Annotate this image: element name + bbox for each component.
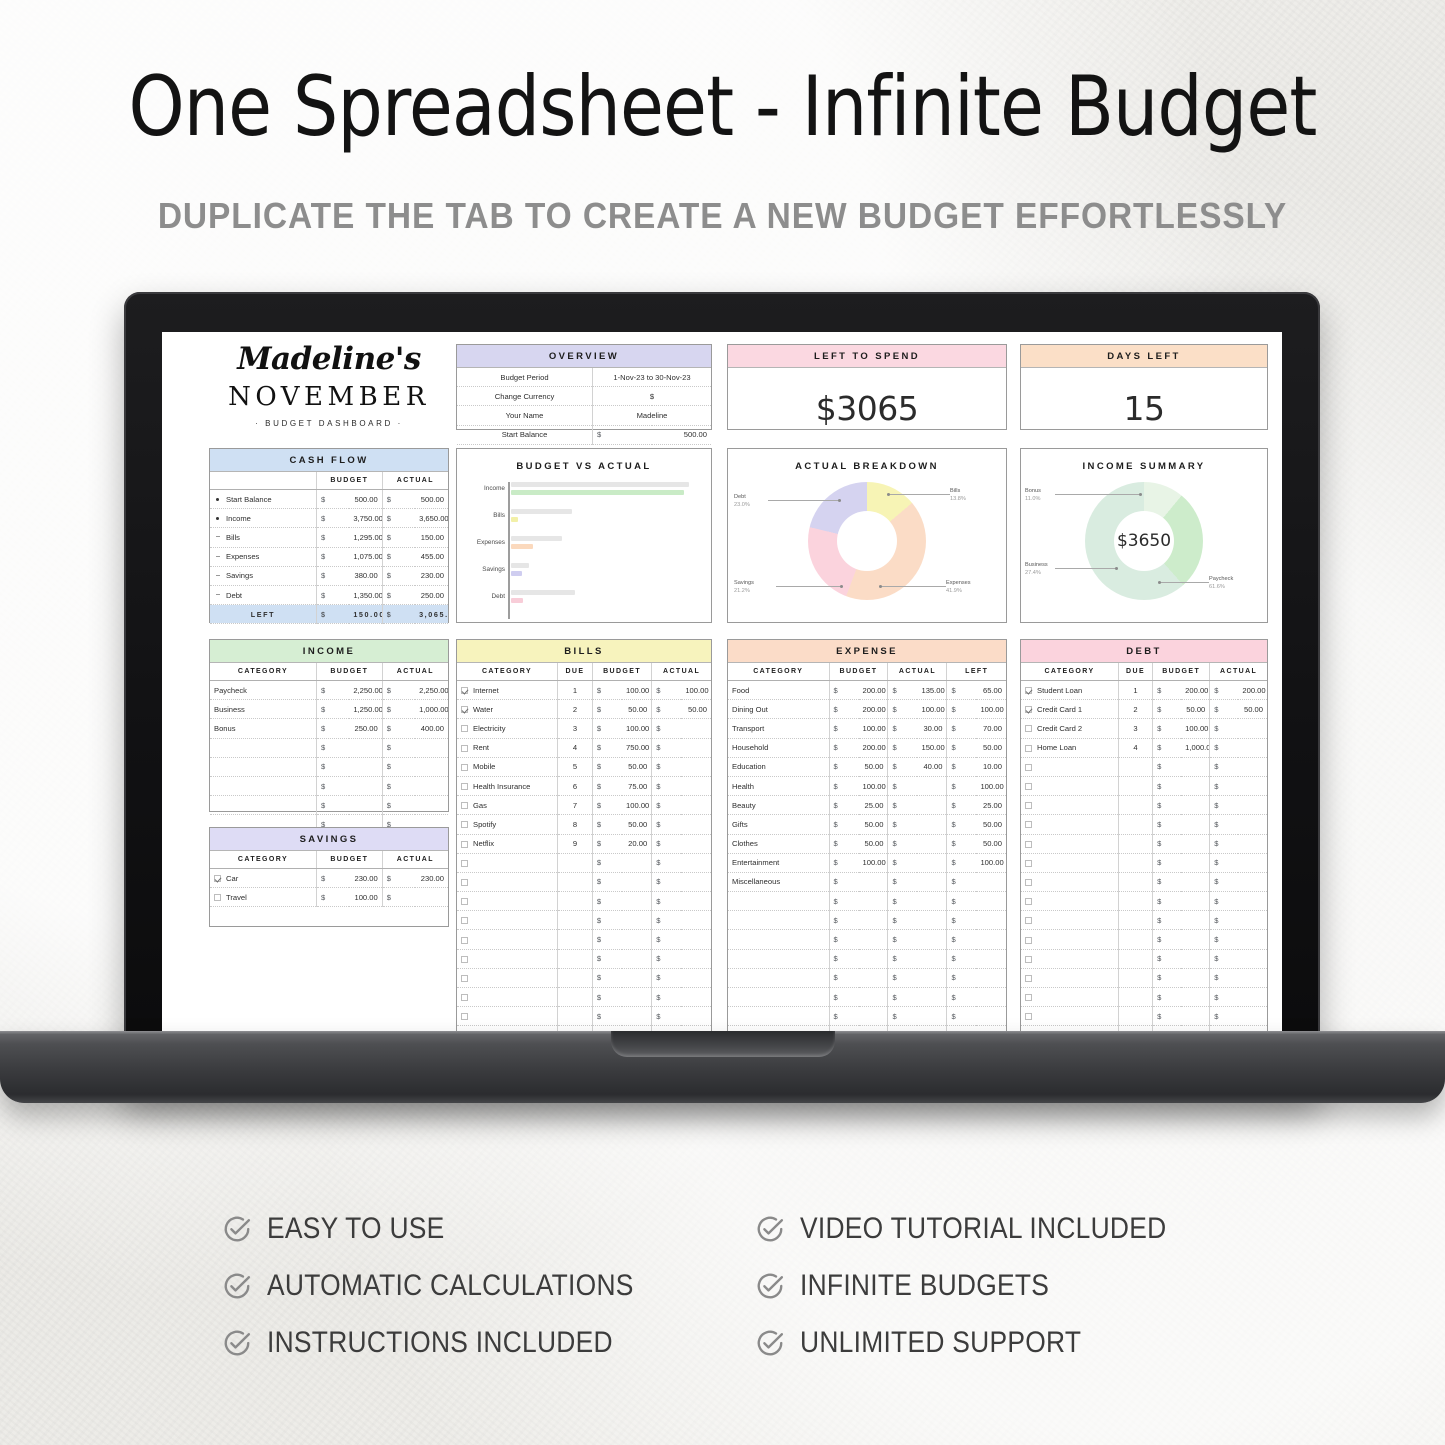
budget-value[interactable]: 50.00 — [859, 757, 888, 776]
row-checkbox[interactable] — [1025, 879, 1032, 886]
category-cell[interactable]: Food — [728, 681, 829, 700]
budget-value[interactable] — [622, 949, 652, 968]
table-row[interactable]: Health$100.00$$100.00 — [728, 776, 1006, 795]
budget-value[interactable]: 100.00 — [859, 853, 888, 872]
category-cell[interactable]: Health — [728, 776, 829, 795]
table-row[interactable]: Credit Card 12$50.00$50.00 — [1021, 700, 1267, 719]
actual-value[interactable] — [681, 853, 711, 872]
actual-value[interactable] — [1238, 988, 1267, 1007]
table-row[interactable]: $$ — [210, 796, 448, 815]
budget-value[interactable] — [622, 968, 652, 987]
due-value[interactable] — [557, 988, 592, 1007]
row-checkbox[interactable] — [461, 917, 468, 924]
category-cell[interactable] — [728, 911, 829, 930]
category-cell[interactable] — [1021, 911, 1119, 930]
actual-value[interactable] — [681, 949, 711, 968]
bills-panel[interactable]: BILLS CATEGORYDUEBUDGETACTUALInternet1$1… — [456, 639, 712, 1051]
table-row[interactable]: Home Loan4$1,000.00$ — [1021, 738, 1267, 757]
budget-value[interactable]: 100.00 — [622, 796, 652, 815]
table-row[interactable]: Car$230.00$230.00 — [210, 869, 448, 888]
due-value[interactable]: 5 — [557, 757, 592, 776]
savings-table[interactable]: CATEGORYBUDGETACTUALCar$230.00$230.00Tra… — [210, 851, 448, 907]
category-cell[interactable] — [457, 1007, 557, 1026]
budget-value[interactable] — [349, 776, 382, 795]
actual-value[interactable] — [1238, 719, 1267, 738]
table-row[interactable]: Health Insurance6$75.00$ — [457, 776, 711, 795]
category-cell[interactable]: Rent — [457, 738, 557, 757]
category-cell[interactable] — [457, 892, 557, 911]
due-value[interactable]: 2 — [1119, 700, 1153, 719]
row-checkbox[interactable] — [1025, 687, 1032, 694]
category-cell[interactable] — [1021, 757, 1119, 776]
budget-value[interactable]: 100.00 — [859, 776, 888, 795]
table-row[interactable]: Water2$50.00$50.00 — [457, 700, 711, 719]
table-row[interactable]: $$ — [457, 892, 711, 911]
actual-value[interactable] — [1238, 892, 1267, 911]
row-checkbox[interactable] — [1025, 764, 1032, 771]
actual-value[interactable]: 50.00 — [1238, 700, 1267, 719]
budget-value[interactable]: 50.00 — [859, 834, 888, 853]
budget-value[interactable]: 200.00 — [859, 700, 888, 719]
budget-value[interactable]: 200.00 — [859, 681, 888, 700]
actual-value[interactable]: 100.00 — [681, 681, 711, 700]
overview-value[interactable]: $ — [593, 387, 712, 406]
budget-value[interactable]: 750.00 — [622, 738, 652, 757]
table-row[interactable]: Spotify8$50.00$ — [457, 815, 711, 834]
actual-value[interactable]: 40.00 — [917, 757, 946, 776]
category-cell[interactable] — [1021, 834, 1119, 853]
budget-value[interactable]: 100.00 — [1181, 719, 1210, 738]
table-row[interactable]: Savings$380.00$230.00 — [210, 566, 448, 585]
actual-value[interactable]: 230.00 — [415, 869, 448, 888]
due-value[interactable] — [1119, 757, 1153, 776]
budget-value[interactable]: 50.00 — [859, 815, 888, 834]
category-cell[interactable]: Credit Card 2 — [1021, 719, 1119, 738]
actual-value[interactable] — [681, 872, 711, 891]
actual-value[interactable] — [917, 968, 946, 987]
due-value[interactable] — [557, 853, 592, 872]
budget-value[interactable] — [622, 872, 652, 891]
row-checkbox[interactable] — [1025, 745, 1032, 752]
row-checkbox[interactable] — [461, 841, 468, 848]
actual-value[interactable] — [415, 776, 448, 795]
category-cell[interactable]: Paycheck — [210, 681, 316, 700]
budget-spreadsheet[interactable]: Madeline's NOVEMBER · BUDGET DASHBOARD ·… — [162, 332, 1282, 1058]
budget-value[interactable]: 1,250.00 — [349, 700, 382, 719]
actual-value[interactable]: 1,000.00 — [415, 700, 448, 719]
table-row[interactable]: $$ — [1021, 815, 1267, 834]
table-row[interactable]: $$ — [1021, 892, 1267, 911]
table-row[interactable]: $$$ — [728, 930, 1006, 949]
category-cell[interactable] — [210, 757, 316, 776]
category-cell[interactable] — [1021, 968, 1119, 987]
actual-value[interactable] — [1238, 776, 1267, 795]
actual-value[interactable]: 500.00 — [415, 490, 448, 509]
actual-value[interactable] — [1238, 872, 1267, 891]
due-value[interactable] — [1119, 892, 1153, 911]
actual-value[interactable]: 30.00 — [917, 719, 946, 738]
due-value[interactable]: 1 — [1119, 681, 1153, 700]
actual-value[interactable]: 400.00 — [415, 719, 448, 738]
budget-value[interactable] — [859, 892, 888, 911]
row-checkbox[interactable] — [461, 687, 468, 694]
actual-value[interactable] — [917, 911, 946, 930]
budget-value[interactable] — [1181, 930, 1210, 949]
table-row[interactable]: Income$3,750.00$3,650.00 — [210, 509, 448, 528]
actual-value[interactable] — [681, 757, 711, 776]
table-row[interactable]: Change Currency$ — [457, 387, 711, 406]
budget-value[interactable]: 50.00 — [622, 700, 652, 719]
category-cell[interactable]: Miscellaneous — [728, 872, 829, 891]
budget-value[interactable]: 1,295.00 — [349, 528, 382, 547]
row-checkbox[interactable] — [461, 745, 468, 752]
table-row[interactable]: $$$ — [728, 949, 1006, 968]
due-value[interactable] — [1119, 1007, 1153, 1026]
table-row[interactable]: Credit Card 23$100.00$ — [1021, 719, 1267, 738]
category-cell[interactable] — [1021, 796, 1119, 815]
actual-value[interactable] — [917, 1007, 946, 1026]
table-row[interactable]: $$ — [457, 911, 711, 930]
due-value[interactable]: 8 — [557, 815, 592, 834]
budget-value[interactable]: 380.00 — [349, 566, 382, 585]
income-summary-panel[interactable]: INCOME SUMMARY $3650Bonus11.0%Business27… — [1020, 448, 1268, 623]
due-value[interactable] — [1119, 853, 1153, 872]
overview-value[interactable]: 1-Nov-23 to 30-Nov-23 — [593, 368, 712, 387]
category-cell[interactable]: Dining Out — [728, 700, 829, 719]
table-row[interactable]: Dining Out$200.00$100.00$100.00 — [728, 700, 1006, 719]
table-row[interactable]: $$$ — [728, 968, 1006, 987]
actual-value[interactable] — [681, 988, 711, 1007]
days-left-panel[interactable]: DAYS LEFT 15 — [1020, 344, 1268, 430]
category-cell[interactable]: Gas — [457, 796, 557, 815]
due-value[interactable]: 9 — [557, 834, 592, 853]
actual-value[interactable]: 455.00 — [415, 547, 448, 566]
table-row[interactable]: Start Balance$500.00$500.00 — [210, 490, 448, 509]
budget-value[interactable] — [622, 892, 652, 911]
budget-value[interactable] — [859, 872, 888, 891]
row-checkbox[interactable] — [461, 706, 468, 713]
actual-value[interactable] — [917, 930, 946, 949]
actual-value[interactable] — [1238, 738, 1267, 757]
category-cell[interactable]: Student Loan — [1021, 681, 1119, 700]
budget-value[interactable]: 1,000.00 — [1181, 738, 1210, 757]
budget-value[interactable] — [349, 757, 382, 776]
budget-value[interactable]: 25.00 — [859, 796, 888, 815]
actual-value[interactable]: 250.00 — [415, 585, 448, 604]
row-checkbox[interactable] — [1025, 975, 1032, 982]
budget-value[interactable] — [859, 988, 888, 1007]
budget-value[interactable] — [349, 738, 382, 757]
budget-value[interactable] — [1181, 949, 1210, 968]
debt-panel[interactable]: DEBT CATEGORYDUEBUDGETACTUALStudent Loan… — [1020, 639, 1268, 1051]
actual-value[interactable] — [415, 796, 448, 815]
budget-value[interactable]: 100.00 — [859, 719, 888, 738]
category-cell[interactable] — [1021, 988, 1119, 1007]
budget-value[interactable]: 500.00 — [349, 490, 382, 509]
due-value[interactable] — [1119, 776, 1153, 795]
category-cell[interactable] — [210, 796, 316, 815]
table-row[interactable]: $$ — [457, 853, 711, 872]
actual-value[interactable] — [681, 911, 711, 930]
table-row[interactable]: Electricity3$100.00$ — [457, 719, 711, 738]
row-checkbox[interactable] — [461, 860, 468, 867]
table-row[interactable]: Gifts$50.00$$50.00 — [728, 815, 1006, 834]
category-cell[interactable] — [728, 968, 829, 987]
overview-value[interactable]: Madeline — [593, 406, 712, 425]
budget-value[interactable] — [349, 796, 382, 815]
actual-value[interactable] — [917, 892, 946, 911]
budget-value[interactable]: 1,075.00 — [349, 547, 382, 566]
category-cell[interactable] — [728, 949, 829, 968]
overview-table[interactable]: Budget Period1-Nov-23 to 30-Nov-23Change… — [457, 368, 711, 445]
budget-value[interactable] — [1181, 776, 1210, 795]
budget-value[interactable] — [1181, 872, 1210, 891]
actual-value[interactable] — [1238, 911, 1267, 930]
category-cell[interactable] — [457, 853, 557, 872]
row-checkbox[interactable] — [1025, 860, 1032, 867]
row-checkbox[interactable] — [214, 875, 221, 882]
table-row[interactable]: $$ — [457, 988, 711, 1007]
due-value[interactable] — [557, 949, 592, 968]
row-checkbox[interactable] — [461, 994, 468, 1001]
category-cell[interactable] — [1021, 776, 1119, 795]
category-cell[interactable] — [728, 1007, 829, 1026]
category-cell[interactable]: Beauty — [728, 796, 829, 815]
actual-value[interactable] — [917, 815, 946, 834]
row-checkbox[interactable] — [461, 1013, 468, 1020]
overview-panel[interactable]: OVERVIEW Budget Period1-Nov-23 to 30-Nov… — [456, 344, 712, 430]
budget-value[interactable]: 100.00 — [349, 888, 382, 907]
budget-value[interactable]: 3,750.00 — [349, 509, 382, 528]
table-row[interactable]: $$ — [457, 949, 711, 968]
budget-value[interactable] — [1181, 815, 1210, 834]
budget-value[interactable] — [1181, 834, 1210, 853]
table-row[interactable]: Household$200.00$150.00$50.00 — [728, 738, 1006, 757]
actual-value[interactable] — [917, 834, 946, 853]
category-cell[interactable]: Gifts — [728, 815, 829, 834]
actual-value[interactable]: 100.00 — [917, 700, 946, 719]
actual-value[interactable] — [1238, 834, 1267, 853]
actual-value[interactable] — [681, 930, 711, 949]
row-checkbox[interactable] — [214, 894, 221, 901]
category-cell[interactable]: Education — [728, 757, 829, 776]
budget-value[interactable] — [622, 1007, 652, 1026]
budget-value[interactable] — [859, 911, 888, 930]
budget-value[interactable] — [622, 853, 652, 872]
table-row[interactable]: $$ — [1021, 853, 1267, 872]
table-row[interactable]: $$ — [457, 968, 711, 987]
table-row[interactable]: $$ — [1021, 988, 1267, 1007]
table-row[interactable]: $$ — [210, 757, 448, 776]
category-cell[interactable] — [457, 911, 557, 930]
category-cell[interactable] — [210, 776, 316, 795]
budget-value[interactable]: 75.00 — [622, 776, 652, 795]
row-checkbox[interactable] — [1025, 725, 1032, 732]
actual-value[interactable]: 50.00 — [681, 700, 711, 719]
table-row[interactable]: Travel$100.00$ — [210, 888, 448, 907]
table-row[interactable]: Transport$100.00$30.00$70.00 — [728, 719, 1006, 738]
budget-value[interactable]: 50.00 — [622, 757, 652, 776]
actual-value[interactable] — [1238, 930, 1267, 949]
category-cell[interactable]: Bonus — [210, 719, 316, 738]
table-row[interactable]: $$$ — [728, 988, 1006, 1007]
category-cell[interactable] — [1021, 892, 1119, 911]
row-checkbox[interactable] — [1025, 841, 1032, 848]
row-checkbox[interactable] — [461, 764, 468, 771]
category-cell[interactable] — [457, 930, 557, 949]
row-checkbox[interactable] — [461, 975, 468, 982]
budget-value[interactable] — [622, 988, 652, 1007]
due-value[interactable]: 4 — [1119, 738, 1153, 757]
category-cell[interactable] — [457, 949, 557, 968]
category-cell[interactable]: Business — [210, 700, 316, 719]
category-cell[interactable]: Clothes — [728, 834, 829, 853]
table-row[interactable]: $$ — [1021, 796, 1267, 815]
table-row[interactable]: Gas7$100.00$ — [457, 796, 711, 815]
table-row[interactable]: Internet1$100.00$100.00 — [457, 681, 711, 700]
category-cell[interactable] — [1021, 949, 1119, 968]
actual-breakdown-panel[interactable]: ACTUAL BREAKDOWN Bills13.8%Expenses41.9%… — [727, 448, 1007, 623]
category-cell[interactable] — [1021, 815, 1119, 834]
category-cell[interactable] — [1021, 853, 1119, 872]
due-value[interactable] — [1119, 911, 1153, 930]
budget-value[interactable]: 50.00 — [622, 815, 652, 834]
table-row[interactable]: $$$ — [728, 911, 1006, 930]
table-row[interactable]: Debt$1,350.00$250.00 — [210, 585, 448, 604]
table-row[interactable]: Food$200.00$135.00$65.00 — [728, 681, 1006, 700]
debt-table[interactable]: CATEGORYDUEBUDGETACTUALStudent Loan1$200… — [1021, 663, 1267, 1051]
due-value[interactable] — [1119, 988, 1153, 1007]
category-cell[interactable]: Spotify — [457, 815, 557, 834]
table-row[interactable]: Start Balance$500.00 — [457, 425, 711, 444]
category-cell[interactable] — [1021, 1007, 1119, 1026]
table-row[interactable]: Bills$1,295.00$150.00 — [210, 528, 448, 547]
category-cell[interactable]: Travel — [210, 888, 316, 907]
expense-table[interactable]: CATEGORYBUDGETACTUALLEFTFood$200.00$135.… — [728, 663, 1006, 1051]
cash-flow-table[interactable]: BUDGETACTUALStart Balance$500.00$500.00I… — [210, 472, 448, 624]
budget-value[interactable]: 200.00 — [1181, 681, 1210, 700]
table-row[interactable]: $$ — [1021, 1007, 1267, 1026]
bills-table[interactable]: CATEGORYDUEBUDGETACTUALInternet1$100.00$… — [457, 663, 711, 1051]
due-value[interactable] — [1119, 872, 1153, 891]
row-checkbox[interactable] — [461, 937, 468, 944]
budget-value[interactable] — [1181, 968, 1210, 987]
budget-value[interactable]: 2,250.00 — [349, 681, 382, 700]
actual-value[interactable] — [681, 776, 711, 795]
table-row[interactable]: Entertainment$100.00$$100.00 — [728, 853, 1006, 872]
table-row[interactable]: $$ — [1021, 930, 1267, 949]
category-cell[interactable]: Car — [210, 869, 316, 888]
row-checkbox[interactable] — [1025, 956, 1032, 963]
budget-value[interactable] — [1181, 911, 1210, 930]
budget-value[interactable]: 100.00 — [622, 719, 652, 738]
table-row[interactable]: $$ — [1021, 757, 1267, 776]
actual-value[interactable] — [1238, 853, 1267, 872]
due-value[interactable]: 3 — [1119, 719, 1153, 738]
category-cell[interactable]: Credit Card 1 — [1021, 700, 1119, 719]
budget-value[interactable] — [1181, 892, 1210, 911]
budget-value[interactable] — [622, 911, 652, 930]
category-cell[interactable] — [457, 872, 557, 891]
table-row[interactable]: Student Loan1$200.00$200.00 — [1021, 681, 1267, 700]
budget-value[interactable] — [1181, 853, 1210, 872]
actual-value[interactable] — [681, 719, 711, 738]
budget-value[interactable] — [1181, 757, 1210, 776]
category-cell[interactable]: Household — [728, 738, 829, 757]
due-value[interactable] — [557, 892, 592, 911]
table-row[interactable]: Bonus$250.00$400.00 — [210, 719, 448, 738]
actual-value[interactable] — [681, 968, 711, 987]
budget-value[interactable]: 100.00 — [622, 681, 652, 700]
budget-vs-actual-panel[interactable]: BUDGET VS ACTUAL IncomeBillsExpensesSavi… — [456, 448, 712, 623]
actual-value[interactable] — [1238, 949, 1267, 968]
due-value[interactable] — [557, 930, 592, 949]
budget-value[interactable] — [859, 949, 888, 968]
budget-value[interactable] — [622, 930, 652, 949]
budget-value[interactable]: 50.00 — [1181, 700, 1210, 719]
row-checkbox[interactable] — [461, 898, 468, 905]
budget-value[interactable] — [1181, 796, 1210, 815]
actual-value[interactable] — [681, 1007, 711, 1026]
budget-value[interactable]: 200.00 — [859, 738, 888, 757]
category-cell[interactable]: Home Loan — [1021, 738, 1119, 757]
actual-value[interactable] — [681, 796, 711, 815]
table-row[interactable]: Beauty$25.00$$25.00 — [728, 796, 1006, 815]
table-row[interactable]: Mobile5$50.00$ — [457, 757, 711, 776]
actual-value[interactable]: 135.00 — [917, 681, 946, 700]
actual-value[interactable]: 200.00 — [1238, 681, 1267, 700]
table-row[interactable]: $$ — [210, 738, 448, 757]
table-row[interactable]: Your NameMadeline — [457, 406, 711, 425]
due-value[interactable]: 2 — [557, 700, 592, 719]
row-checkbox[interactable] — [461, 802, 468, 809]
row-checkbox[interactable] — [461, 725, 468, 732]
row-checkbox[interactable] — [1025, 1013, 1032, 1020]
left-to-spend-panel[interactable]: LEFT TO SPEND $3065 — [727, 344, 1007, 430]
table-row[interactable]: $$$ — [728, 892, 1006, 911]
actual-value[interactable] — [1238, 757, 1267, 776]
actual-value[interactable] — [917, 949, 946, 968]
expense-panel[interactable]: EXPENSE CATEGORYBUDGETACTUALLEFTFood$200… — [727, 639, 1007, 1051]
due-value[interactable]: 7 — [557, 796, 592, 815]
overview-value[interactable]: 500.00 — [652, 425, 711, 444]
budget-value[interactable]: 1,350.00 — [349, 585, 382, 604]
due-value[interactable]: 4 — [557, 738, 592, 757]
table-row[interactable]: $$ — [1021, 776, 1267, 795]
category-cell[interactable] — [728, 930, 829, 949]
row-checkbox[interactable] — [461, 879, 468, 886]
table-row[interactable]: Education$50.00$40.00$10.00 — [728, 757, 1006, 776]
actual-value[interactable] — [681, 815, 711, 834]
category-cell[interactable] — [457, 988, 557, 1007]
category-cell[interactable] — [1021, 872, 1119, 891]
actual-value[interactable] — [1238, 815, 1267, 834]
table-row[interactable]: Expenses$1,075.00$455.00 — [210, 547, 448, 566]
budget-value[interactable]: 230.00 — [349, 869, 382, 888]
actual-value[interactable] — [681, 738, 711, 757]
actual-value[interactable] — [1238, 968, 1267, 987]
actual-value[interactable] — [917, 776, 946, 795]
actual-value[interactable]: 150.00 — [917, 738, 946, 757]
savings-panel[interactable]: SAVINGS CATEGORYBUDGETACTUALCar$230.00$2… — [209, 827, 449, 927]
due-value[interactable] — [1119, 834, 1153, 853]
category-cell[interactable]: Electricity — [457, 719, 557, 738]
row-checkbox[interactable] — [1025, 937, 1032, 944]
table-row[interactable]: Budget Period1-Nov-23 to 30-Nov-23 — [457, 368, 711, 387]
due-value[interactable]: 3 — [557, 719, 592, 738]
row-checkbox[interactable] — [1025, 783, 1032, 790]
row-checkbox[interactable] — [1025, 821, 1032, 828]
